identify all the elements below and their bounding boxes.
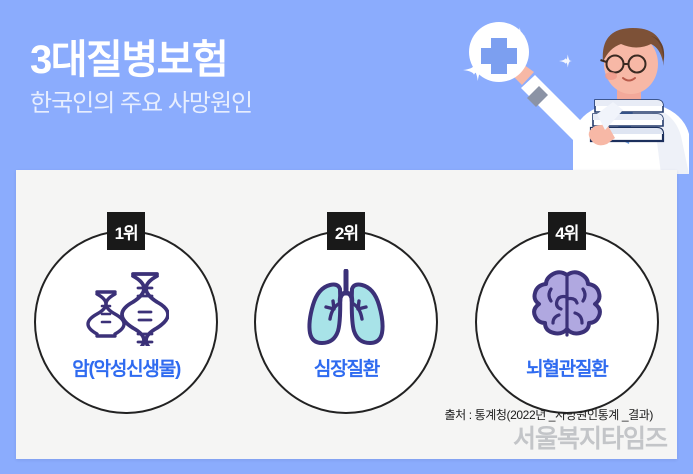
disease-item-brain[interactable]: 4위	[472, 212, 662, 412]
sparkle-star	[559, 55, 572, 68]
rank-badge: 4위	[548, 212, 586, 250]
doctor-illustration	[445, 14, 693, 174]
disease-label: 뇌혈관질환	[526, 354, 607, 381]
disease-label: 암(악성신생물)	[72, 354, 180, 381]
rank-badge: 2위	[327, 212, 365, 250]
disease-items-row: 1위	[16, 212, 677, 412]
rank-badge: 1위	[107, 212, 145, 250]
disease-circle: 심장질환	[254, 230, 438, 414]
watermark: 서울복지타임즈	[513, 419, 667, 455]
disease-label: 심장질환	[314, 354, 379, 381]
content-card: 1위	[16, 170, 677, 459]
page-subtitle: 한국인의 주요 사망원인	[30, 90, 390, 119]
disease-circle: 암(악성신생물)	[34, 230, 218, 414]
brain-icon	[527, 266, 607, 348]
page-title: 3대질병보험	[30, 38, 390, 82]
disease-item-cancer[interactable]: 1위	[31, 212, 221, 412]
lungs-icon	[304, 266, 388, 348]
dna-icon	[83, 266, 169, 348]
header-block: 3대질병보험 한국인의 주요 사망원인	[30, 38, 390, 119]
disease-circle: 뇌혈관질환	[475, 230, 659, 414]
infographic-root: 3대질병보험 한국인의 주요 사망원인	[0, 0, 693, 474]
disease-item-heart[interactable]: 2위	[251, 212, 441, 412]
